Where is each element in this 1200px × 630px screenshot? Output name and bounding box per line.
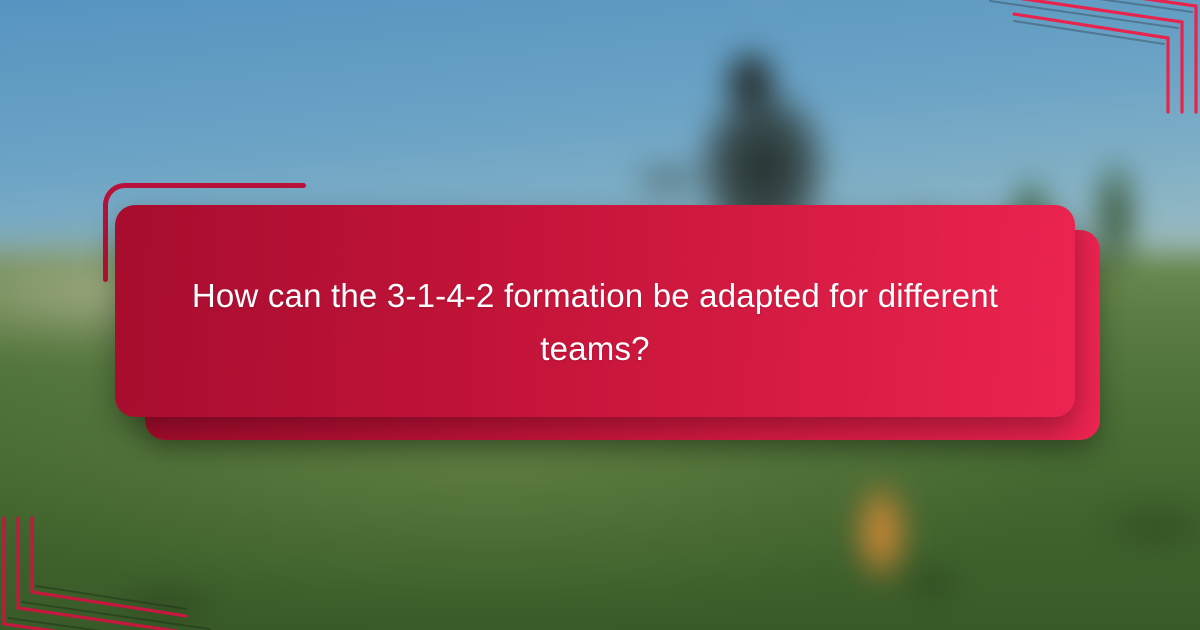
question-text: How can the 3-1-4-2 formation be adapted… — [182, 247, 1008, 376]
question-card-graphic: How can the 3-1-4-2 formation be adapted… — [0, 0, 1200, 630]
grass-patch-left — [84, 571, 247, 630]
training-cone-icon — [837, 466, 925, 594]
player-head — [715, 40, 786, 123]
grass-patch-right — [1061, 481, 1200, 571]
question-card: How can the 3-1-4-2 formation be adapted… — [115, 205, 1075, 417]
